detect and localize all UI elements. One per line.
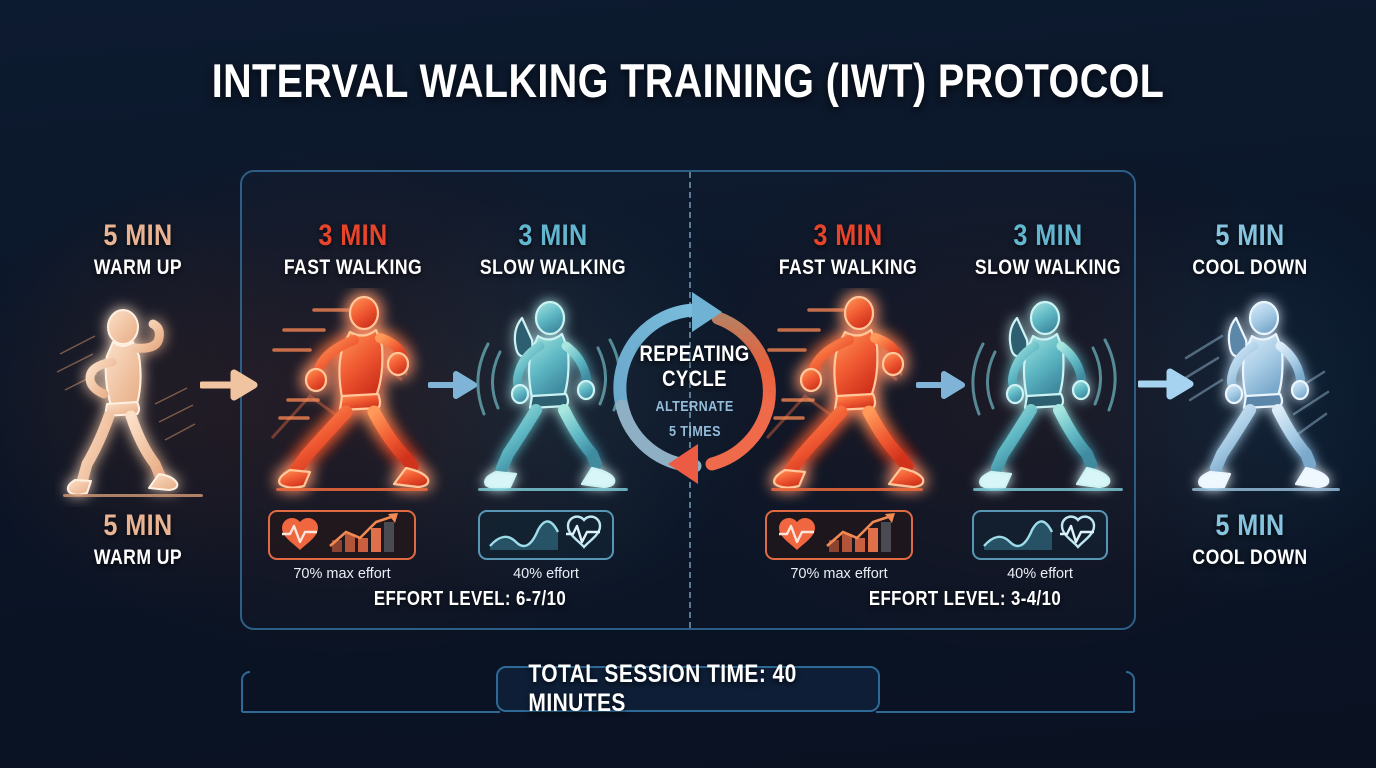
label-warmup-top: 5 MIN WARM UP [28,218,248,282]
caption-slow-1: 40% effort [478,566,614,582]
fast-walker-icon [262,288,447,506]
caption-fast-2: 70% max effort [765,566,913,582]
warmup-label: WARM UP [46,254,231,282]
cycle-line-1: REPEATING [640,341,750,366]
repeating-cycle-badge: REPEATING CYCLE ALTERNATE 5 TIMES [600,288,790,488]
cycle-line-2: CYCLE [663,366,728,391]
effort-level-right: EFFORT LEVEL: 3-4/10 [805,588,1124,611]
total-session-time-badge: TOTAL SESSION TIME: 40 MINUTES [496,666,880,712]
fast1-duration: 3 MIN [261,218,446,254]
arrow-fast-to-slow-icon [428,370,480,400]
label-fast-2: 3 MIN FAST WALKING [738,218,958,282]
cooldown-label: COOL DOWN [1158,254,1343,282]
caption-slow-2: 40% effort [972,566,1108,582]
slow-walker-icon [957,290,1142,506]
fast2-duration: 3 MIN [756,218,941,254]
cycle-line-3: ALTERNATE [656,397,734,416]
cycle-line-4: 5 TIMES [669,422,721,441]
metric-box-fast-2 [765,510,913,560]
total-session-time-text: TOTAL SESSION TIME: 40 MINUTES [528,660,847,718]
heart-rate-and-bar-chart-icon [767,512,911,558]
warmup-duration: 5 MIN [46,218,231,254]
arrow-slow-to-cooldown-icon [1138,368,1196,400]
metric-box-fast-1 [268,510,416,560]
infographic-canvas: INTERVAL WALKING TRAINING (IWT) PROTOCOL… [0,0,1376,768]
fast2-label: FAST WALKING [756,254,941,282]
cycle-text-block: REPEATING CYCLE ALTERNATE 5 TIMES [600,288,790,488]
arrow-warmup-to-fast-icon [200,368,262,402]
wave-and-heart-rate-icon [974,512,1106,558]
warmup-duration-bottom: 5 MIN [46,508,231,544]
effort-level-left: EFFORT LEVEL: 6-7/10 [310,588,629,611]
label-cooldown-bottom: 5 MIN COOL DOWN [1140,508,1360,572]
heart-rate-and-bar-chart-icon [270,512,414,558]
arrow-fast2-to-slow2-icon [916,370,968,400]
cooldown-walker-icon [1178,292,1358,506]
slow1-label: SLOW WALKING [461,254,646,282]
wave-and-heart-rate-icon [480,512,612,558]
slow2-duration: 3 MIN [956,218,1141,254]
page-title: INTERVAL WALKING TRAINING (IWT) PROTOCOL [110,52,1266,110]
caption-fast-1: 70% max effort [268,566,416,582]
label-fast-1: 3 MIN FAST WALKING [243,218,463,282]
slow2-label: SLOW WALKING [956,254,1141,282]
cooldown-duration: 5 MIN [1158,218,1343,254]
metric-box-slow-2 [972,510,1108,560]
slow1-duration: 3 MIN [461,218,646,254]
label-slow-2: 3 MIN SLOW WALKING [938,218,1158,282]
label-slow-1: 3 MIN SLOW WALKING [443,218,663,282]
label-cooldown-top: 5 MIN COOL DOWN [1140,218,1360,282]
metric-box-slow-1 [478,510,614,560]
warmup-label-bottom: WARM UP [46,544,231,572]
cooldown-duration-bottom: 5 MIN [1158,508,1343,544]
fast1-label: FAST WALKING [261,254,446,282]
label-warmup-bottom: 5 MIN WARM UP [28,508,248,572]
cooldown-label-bottom: COOL DOWN [1158,544,1343,572]
